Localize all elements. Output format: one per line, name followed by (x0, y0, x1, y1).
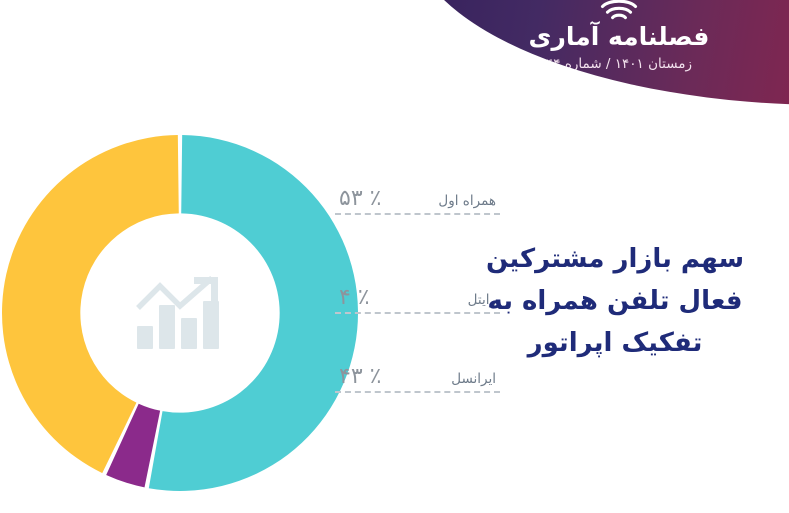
legend-row: همراه اول ۵۳ ٪ (335, 186, 500, 213)
leader-dashed-line (335, 213, 500, 215)
issue-label: زمستان ۱۴۰۱ / شماره ۴۴ (459, 56, 779, 72)
leader-dashed-line (335, 391, 500, 393)
publication-logo: فصلنامه آماری (459, 0, 779, 50)
operator-percent-hamrah-aval: ۵۳ ٪ (339, 186, 381, 211)
legend-row: ایرانسل ۴۳ ٪ (335, 364, 500, 391)
page-title: سهم بازار مشترکین فعال تلفن همراه به تفک… (465, 238, 765, 364)
operator-percent-irancell: ۴۳ ٪ (339, 364, 381, 389)
legend-item-hamrah-aval: همراه اول ۵۳ ٪ (335, 186, 500, 215)
header-content: فصلنامه آماری زمستان ۱۴۰۱ / شماره ۴۴ (459, 0, 789, 72)
operator-name-irancell: ایرانسل (451, 371, 496, 389)
operator-name-hamrah-aval: همراه اول (438, 193, 496, 211)
logo-title: فصلنامه آماری (529, 24, 710, 50)
legend-item-irancell: ایرانسل ۴۳ ٪ (335, 364, 500, 393)
operator-percent-rightel: ۴ ٪ (339, 285, 370, 310)
donut-chart (0, 133, 360, 493)
bar-chart-growth-icon (136, 276, 222, 350)
header-banner: فصلنامه آماری زمستان ۱۴۰۱ / شماره ۴۴ (409, 0, 789, 105)
